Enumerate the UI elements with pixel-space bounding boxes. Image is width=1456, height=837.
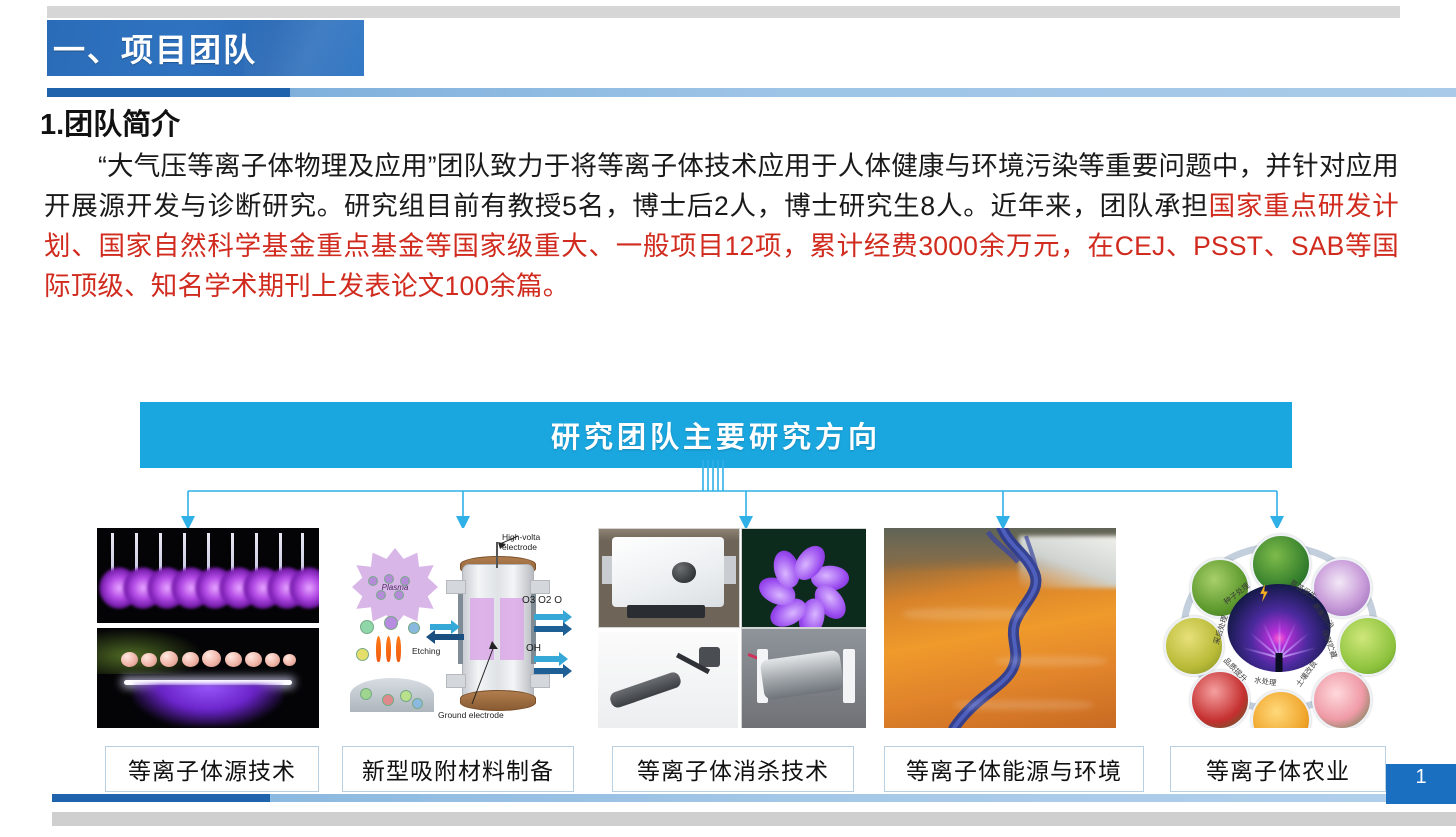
slide-title-banner: 一、项目团队: [47, 20, 364, 76]
crop-node-grain: [1164, 616, 1224, 676]
section-heading: 1.团队简介: [40, 101, 180, 143]
direction-caption-4-label: 等离子体能源与环境: [906, 752, 1122, 786]
disinfection-collage-image: [598, 528, 866, 728]
direction-caption-4: 等离子体能源与环境: [884, 746, 1144, 792]
aerial-river-artwork: [884, 528, 1116, 728]
direction-panels: 等离子体源技术 Plasma: [0, 528, 1456, 798]
footer-gray-strip: [52, 812, 1456, 826]
top-gray-strip: [47, 6, 1400, 18]
connector-diagram: [0, 460, 1456, 535]
cylindrical-plasma-reactor-photo: [741, 628, 866, 728]
page-number-label: 1: [1415, 766, 1426, 789]
direction-caption-3: 等离子体消杀技术: [612, 746, 854, 792]
dbd-reactor-schematic: Plasma Etching: [342, 528, 572, 728]
intro-paragraph: “大气压等离子体物理及应用”团队致力于将等离子体技术应用于人体健康与环境污染等重…: [44, 146, 1399, 306]
adsorbent-schematic-image: Plasma Etching: [342, 528, 572, 728]
direction-caption-3-label: 等离子体消杀技术: [637, 752, 829, 786]
direction-caption-2: 新型吸附材料制备: [342, 746, 574, 792]
paragraph-black-text: “大气压等离子体物理及应用”团队致力于将等离子体技术应用于人体健康与环境污染等重…: [44, 151, 1399, 221]
direction-caption-2-label: 新型吸附材料制备: [362, 752, 554, 786]
page-title: 一、项目团队: [47, 25, 257, 71]
crop-node-lettuce: [1338, 616, 1396, 676]
direction-caption-5-label: 等离子体农业: [1206, 752, 1350, 786]
page-number-badge: 1: [1386, 764, 1456, 804]
direction-caption-5: 等离子体农业: [1170, 746, 1386, 792]
direction-caption-1-label: 等离子体源技术: [128, 752, 296, 786]
research-directions-banner: 研究团队主要研究方向: [140, 402, 1292, 468]
title-sheen: [244, 20, 364, 76]
petal-discharge-pattern: [755, 537, 855, 619]
purple-petal-discharge-photo: [741, 528, 866, 628]
schematic-leader-lines: [342, 528, 572, 728]
crop-node-peach: [1312, 670, 1372, 728]
agriculture-circle-diagram: 种子处理 育苗促生 病害防治 保鲜贮藏 土壤改良 水处理 品质提升 采后处理: [1162, 528, 1396, 728]
white-sterilizer-photo: [598, 528, 740, 628]
handheld-plasma-device-photo: [598, 632, 738, 728]
banner-label: 研究团队主要研究方向: [551, 414, 881, 456]
header-rule-light: [290, 88, 1456, 97]
header-rule-dark: [47, 88, 290, 97]
river-path: [884, 528, 1116, 728]
surface-dbd-plasma-photo: [97, 628, 319, 728]
plasma-source-image: [97, 528, 319, 728]
slide-root: 一、项目团队 1.团队简介 “大气压等离子体物理及应用”团队致力于将等离子体技术…: [0, 0, 1456, 837]
footer-rule-dark: [52, 794, 270, 802]
footer-rule-light: [270, 794, 1456, 802]
direction-caption-1: 等离子体源技术: [105, 746, 319, 792]
plasma-jet-array-photo: [97, 528, 319, 623]
plasma-agriculture-image: 种子处理 育苗促生 病害防治 保鲜贮藏 土壤改良 水处理 品质提升 采后处理: [1162, 528, 1396, 728]
river-desert-photo: [884, 528, 1116, 728]
